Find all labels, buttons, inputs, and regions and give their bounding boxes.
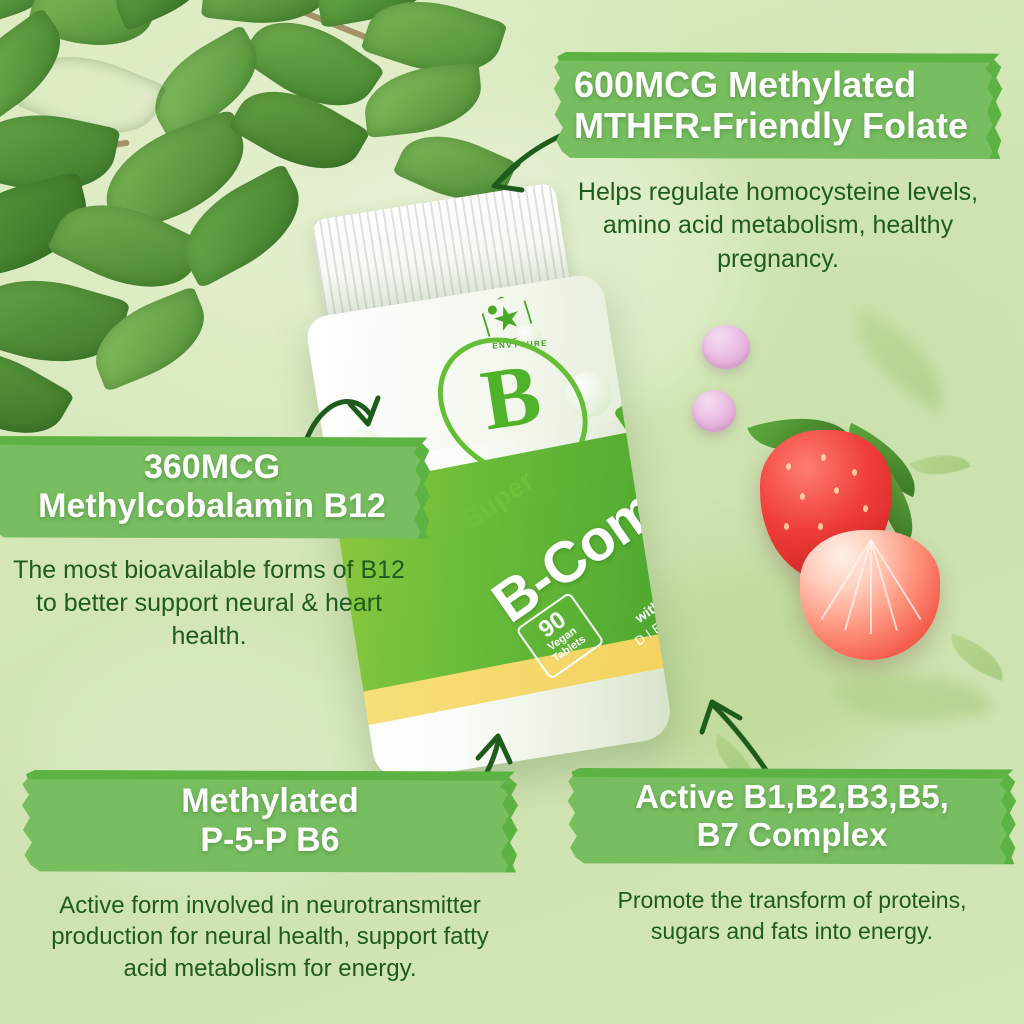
callout-active-title-line2: B7 Complex	[588, 816, 996, 854]
callout-b12-title-line1: 360MCG	[12, 448, 412, 487]
strawberry-vein	[870, 540, 921, 620]
callout-b6-title-line2: P-5-P B6	[46, 821, 494, 860]
floating-leaf-decoration	[833, 305, 966, 413]
strawberry-vein	[870, 540, 898, 631]
callout-b6-banner: Methylated P-5-P B6	[20, 770, 520, 874]
strawberry-seed	[863, 505, 868, 512]
callout-b12: 360MCG Methylcobalamin B12 The most bioa…	[0, 436, 432, 653]
callout-active-title-line1: Active B1,B2,B3,B5,	[588, 778, 996, 816]
strawberry-seed	[852, 469, 857, 476]
strawberry-seed	[800, 493, 805, 500]
callout-folate: 600MCG Methylated MTHFR-Friendly Folate …	[552, 52, 1004, 276]
strawberry-vein	[870, 540, 872, 634]
strawberry-seed	[821, 454, 826, 461]
strawberry-seed	[834, 487, 839, 494]
callout-folate-description: Helps regulate homocysteine levels, amin…	[552, 176, 1004, 276]
strawberry-seed	[818, 523, 823, 530]
strawberry-half	[800, 530, 940, 660]
callout-folate-banner: 600MCG Methylated MTHFR-Friendly Folate	[552, 52, 1004, 160]
callout-b6-title-line1: Methylated	[46, 782, 494, 821]
infographic-canvas: ENVYCURE B Fast-Dissolve Super B-Complex…	[0, 0, 1024, 1024]
callout-b12-title-line2: Methylcobalamin B12	[12, 487, 412, 526]
callout-b12-banner: 360MCG Methylcobalamin B12	[0, 436, 432, 540]
callout-b12-description: The most bioavailable forms of B12 to be…	[0, 554, 432, 654]
floating-leaf-decoration	[833, 651, 994, 747]
callout-folate-title-line1: 600MCG Methylated	[574, 64, 984, 105]
callout-folate-title-line2: MTHFR-Friendly Folate	[574, 105, 984, 146]
callout-b6-description: Active form involved in neurotransmitter…	[20, 890, 520, 986]
callout-active-banner: Active B1,B2,B3,B5, B7 Complex	[566, 768, 1018, 865]
floating-leaf-decoration	[943, 633, 1011, 681]
floating-leaf-decoration	[909, 442, 971, 487]
strawberry-vein	[821, 540, 872, 620]
strawberry-vein	[844, 540, 872, 631]
callout-active-b-complex: Active B1,B2,B3,B5, B7 Complex Promote t…	[566, 768, 1018, 946]
callout-active-description: Promote the transform of proteins, sugar…	[566, 885, 1018, 946]
fast-dissolve-badge: Fast-Dissolve	[613, 337, 674, 435]
callout-b6: Methylated P-5-P B6 Active form involved…	[20, 770, 520, 985]
